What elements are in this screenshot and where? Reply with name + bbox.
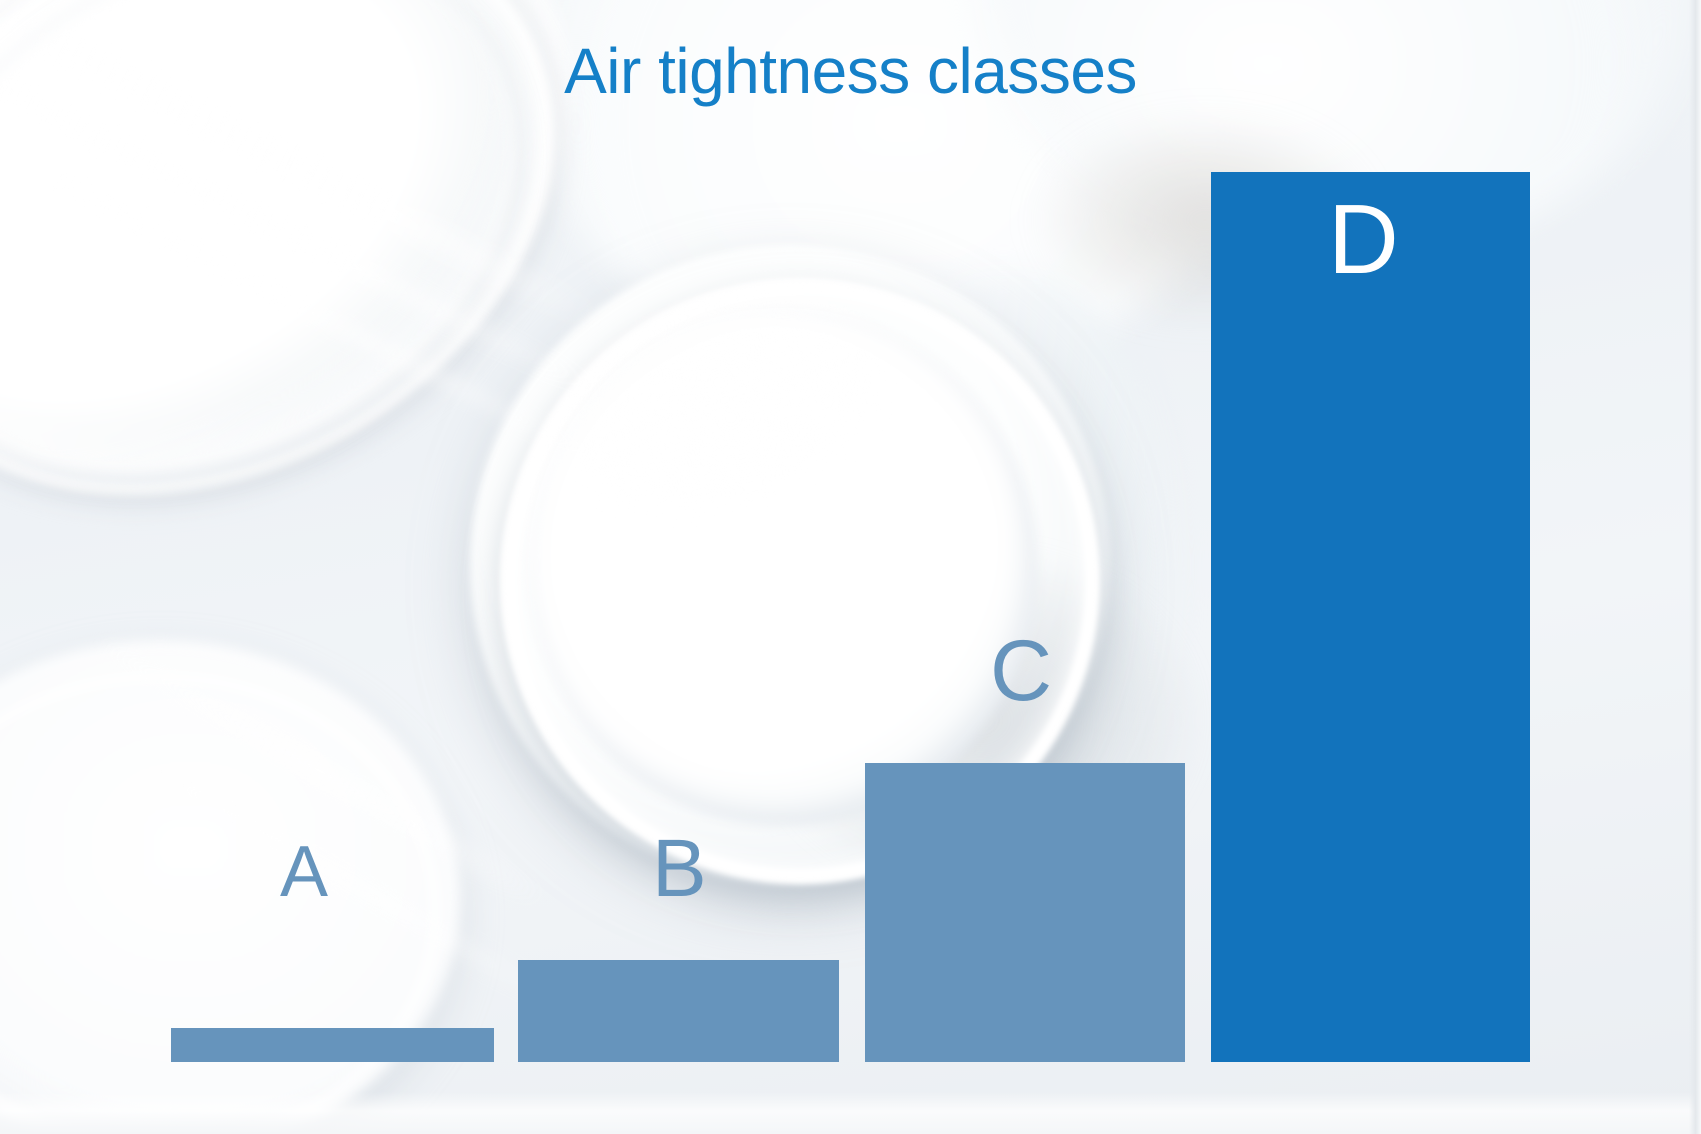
bar-label-c: C xyxy=(990,628,1052,714)
bar-a xyxy=(171,1028,494,1062)
page-bottom-edge xyxy=(0,1092,1701,1134)
slide-title: Air tightness classes xyxy=(0,36,1701,106)
bar-label-b: B xyxy=(652,828,707,910)
bar-c xyxy=(865,763,1185,1062)
bar-label-d: D xyxy=(1328,190,1399,288)
page-right-edge xyxy=(1689,0,1701,1134)
bar-b xyxy=(518,960,839,1062)
bar-label-a: A xyxy=(280,836,328,908)
slide-canvas: Air tightness classes ABCD xyxy=(0,0,1701,1134)
bar-d xyxy=(1211,172,1530,1062)
